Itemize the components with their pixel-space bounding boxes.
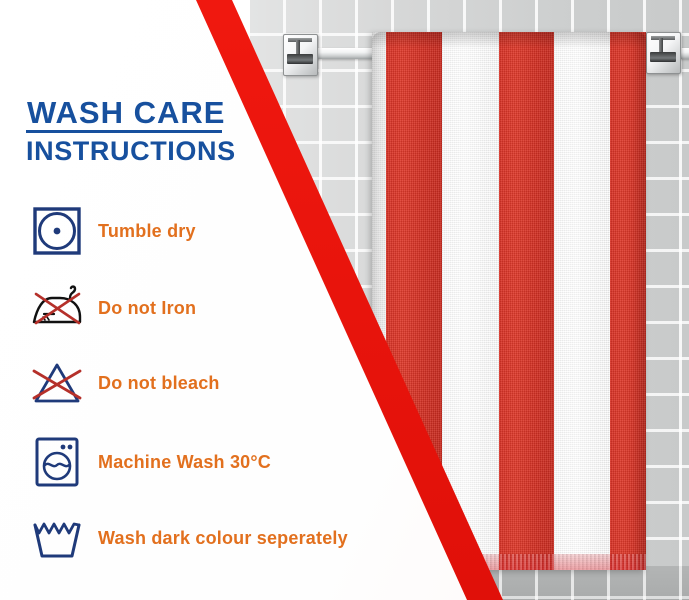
towel-fold-shadow <box>372 32 646 48</box>
instruction-label: Machine Wash 30°C <box>98 452 271 473</box>
left-wall-bracket <box>283 34 318 76</box>
title-underline <box>26 130 222 133</box>
instruction-row: Tumble dry <box>30 204 196 258</box>
instruction-row: Do not Iron <box>30 281 196 335</box>
towel-shading-right <box>632 32 646 570</box>
instruction-row: Wash dark colour seperately <box>30 511 348 565</box>
instruction-row: Do not bleach <box>30 356 220 410</box>
bracket-screw <box>650 52 676 62</box>
page-title-line2: INSTRUCTIONS <box>26 138 236 165</box>
bracket-screw <box>287 54 313 64</box>
machine-wash-icon <box>30 435 84 489</box>
do-not-iron-icon <box>30 281 84 335</box>
right-wall-bracket <box>646 32 681 74</box>
instruction-row: Machine Wash 30°C <box>30 435 271 489</box>
instruction-label: Do not bleach <box>98 373 220 394</box>
towel-stripe-white <box>554 32 610 570</box>
wash-care-infographic: WASH CARE INSTRUCTIONS Tumble dry Do not <box>0 0 689 600</box>
towel-stripe-red <box>499 32 554 570</box>
wash-separately-icon <box>30 511 84 565</box>
instruction-label: Wash dark colour seperately <box>98 528 348 549</box>
bracket-cap <box>288 38 312 42</box>
page-title-line1: WASH CARE <box>27 97 225 128</box>
tumble-dry-icon <box>30 204 84 258</box>
do-not-bleach-icon <box>30 356 84 410</box>
instruction-label: Tumble dry <box>98 221 196 242</box>
bracket-cap <box>651 36 675 40</box>
instruction-label: Do not Iron <box>98 298 196 319</box>
